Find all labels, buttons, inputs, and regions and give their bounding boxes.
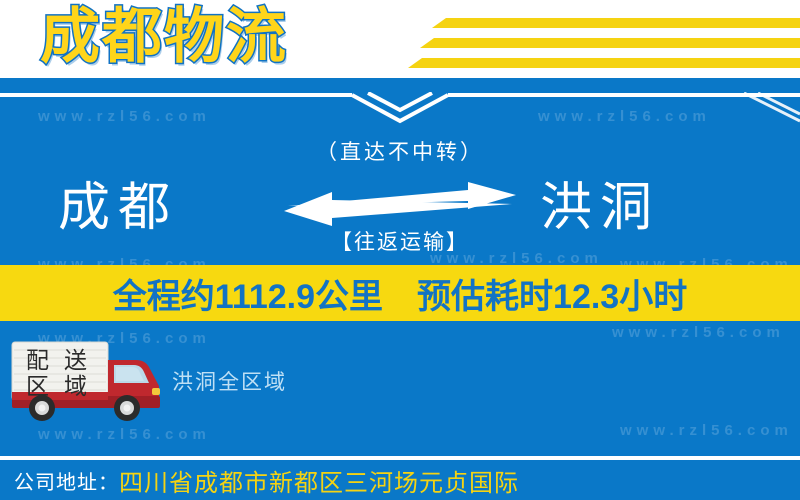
destination-city: 洪洞 xyxy=(540,173,660,243)
address-label: 公司地址： xyxy=(14,466,119,495)
origin-city: 成都 xyxy=(58,173,178,243)
distance-value: 全程约1112.9公里 xyxy=(113,269,383,318)
round-trip-note: 【往返运输】 xyxy=(250,226,550,256)
svg-text:域: 域 xyxy=(64,373,87,399)
delivery-truck-icon: 配 送 区 域 xyxy=(6,336,166,427)
truck-label-line2: 区 xyxy=(26,373,49,399)
coverage-area-text: 洪洞全区域 xyxy=(172,366,287,396)
footer-address-band: 公司地址： 四川省成都市新都区三河场元贞国际 xyxy=(0,460,800,500)
direct-shipping-note: （直达不中转） xyxy=(250,136,550,166)
header-band: 成都物流 xyxy=(0,0,800,78)
decorative-stripe-2 xyxy=(420,38,800,48)
truck-label-line1: 配 xyxy=(26,347,49,373)
bidirectional-arrow-icon xyxy=(280,182,520,226)
duration-value: 预估耗时12.3小时 xyxy=(417,269,687,318)
main-blue-panel: www.rzl56.comwww.rzl56.comwww.rzl56.comw… xyxy=(0,78,800,460)
logistics-banner: 成都物流 www.rzl56.comwww.rzl56.comwww.rzl56… xyxy=(0,0,800,500)
divider-with-chevron xyxy=(0,92,800,126)
watermark-8: www.rzl56.com xyxy=(38,426,211,443)
address-value: 四川省成都市新都区三河场元贞国际 xyxy=(119,463,519,498)
page-title: 成都物流 xyxy=(40,4,288,70)
decorative-stripe-1 xyxy=(432,18,800,28)
delivery-area-row: 配 送 区 域 洪洞全区域 xyxy=(0,336,800,426)
svg-text:送: 送 xyxy=(64,347,87,373)
metrics-bar: 全程约1112.9公里 预估耗时12.3小时 xyxy=(0,265,800,321)
decorative-stripe-3 xyxy=(408,58,800,68)
